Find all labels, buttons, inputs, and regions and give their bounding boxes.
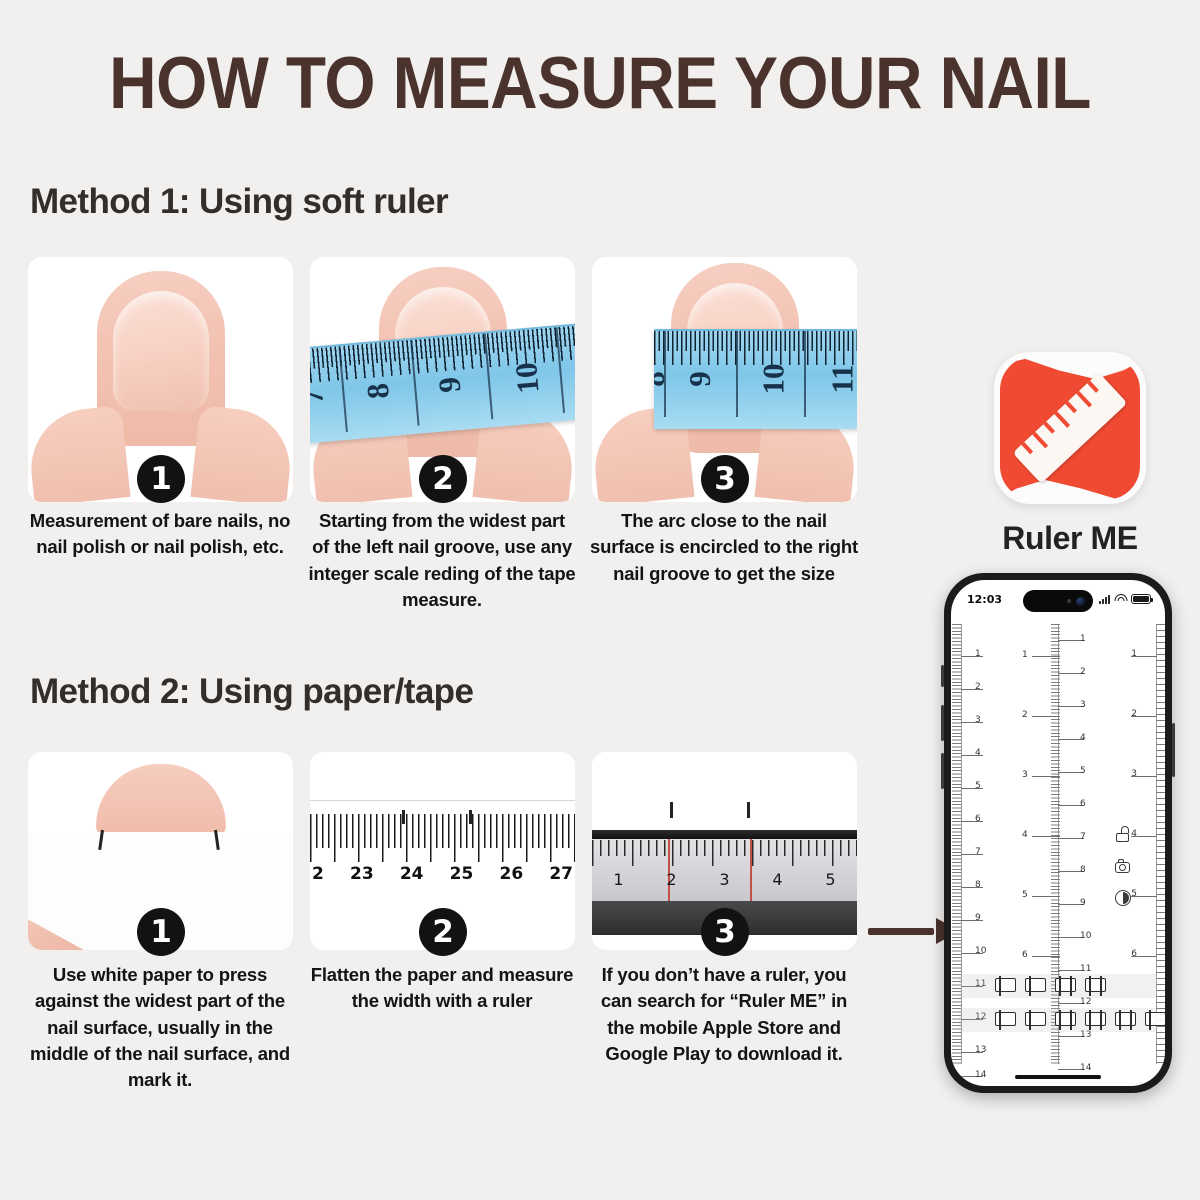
wifi-icon	[1114, 594, 1127, 604]
ruler-number-right: 8	[1080, 865, 1086, 875]
tape-unit-line	[804, 331, 806, 417]
ruler-number-right: 1	[1080, 634, 1086, 644]
ruler-number: 4	[1131, 829, 1137, 839]
ruler-number: 4	[772, 870, 782, 889]
ruler-number-right: 2	[1080, 667, 1086, 677]
ruler-number: 5	[975, 781, 981, 791]
ruler-number-left: 6	[1022, 950, 1028, 960]
method-1-step-1-caption: Measurement of bare nails, no nail polis…	[26, 508, 294, 561]
pen-mark-right	[747, 802, 750, 818]
power-button[interactable]	[1172, 723, 1175, 777]
ruler-number: 23	[350, 864, 374, 884]
measurement-chip[interactable]	[995, 1012, 1016, 1026]
ruler-number-left: 5	[1022, 890, 1028, 900]
sensor-dot	[1067, 599, 1071, 603]
ruler-number-left: 1	[1022, 650, 1028, 660]
ruler-number: 1	[613, 870, 623, 889]
front-camera-icon	[1076, 597, 1085, 606]
page-title: HOW TO MEASURE YOUR NAIL	[0, 42, 1200, 126]
app-name-label: Ruler ME	[960, 520, 1180, 557]
measurement-chip[interactable]	[1025, 978, 1046, 992]
measurement-chip[interactable]	[1115, 1012, 1136, 1026]
tape-number: 9	[682, 371, 718, 387]
tape-number: 11	[825, 364, 857, 393]
ruler-number: 3	[975, 715, 981, 725]
ruler-number: 6	[1131, 949, 1137, 959]
home-indicator[interactable]	[1015, 1075, 1101, 1079]
measurement-widget-row-1[interactable]	[959, 978, 1157, 992]
tape-measure: 8 9 10 11	[654, 329, 857, 429]
ruler-number-right: 9	[1080, 898, 1086, 908]
ruler-fine-ticks	[310, 814, 575, 848]
volume-up-button[interactable]	[941, 705, 944, 741]
ruler-number: 2	[1131, 709, 1137, 719]
ruler-number-right: 3	[1080, 700, 1086, 710]
arrow-shaft	[868, 928, 934, 935]
contrast-icon[interactable]	[1115, 890, 1131, 906]
ruler-number: 6	[975, 814, 981, 824]
ruler-number-right: 11	[1080, 964, 1091, 974]
tape-unit-line	[736, 331, 738, 417]
screen-tool-icons	[1115, 826, 1131, 906]
step-badge-2: 2	[419, 908, 467, 956]
method-2-heading: Method 2: Using paper/tape	[30, 672, 473, 712]
ruler-number: 7	[975, 847, 981, 857]
infographic-page: HOW TO MEASURE YOUR NAIL Method 1: Using…	[0, 0, 1200, 1200]
ruler-number: 9	[975, 913, 981, 923]
ruler-number-left: 2	[1022, 710, 1028, 720]
white-paper-sheet	[592, 752, 857, 800]
ruler-number: 2	[666, 870, 676, 889]
step-badge-1: 1	[137, 908, 185, 956]
ruler-number: 8	[975, 880, 981, 890]
measurement-chip[interactable]	[1055, 978, 1076, 992]
ruler-number: 1	[1131, 649, 1137, 659]
dynamic-island	[1023, 590, 1093, 612]
ruler-app-icon[interactable]	[994, 352, 1146, 504]
phone-mockup: 12:03	[944, 573, 1172, 1093]
measurement-chip[interactable]	[1055, 1012, 1076, 1026]
method-2-step-1-caption: Use white paper to press against the wid…	[26, 962, 294, 1093]
ruler-fine-ticks	[952, 624, 961, 1064]
ruler-number: 3	[1131, 769, 1137, 779]
ruler-number: 13	[975, 1045, 986, 1055]
finger-left	[28, 405, 131, 502]
measurement-chip[interactable]	[1085, 978, 1106, 992]
tape-number: 10	[508, 361, 547, 395]
step-badge-3: 3	[701, 908, 749, 956]
ruler-number: 5	[1131, 889, 1137, 899]
tape-number: 8	[654, 371, 672, 387]
ruler-number-left: 4	[1022, 830, 1028, 840]
ruler-fine-ticks	[1051, 624, 1060, 1064]
ruler-number: 2	[975, 682, 981, 692]
tape-number: 7	[310, 387, 331, 406]
volume-down-button[interactable]	[941, 753, 944, 789]
measurement-chip[interactable]	[1025, 1012, 1046, 1026]
cellular-signal-icon	[1099, 595, 1110, 604]
ruler-dark-edge	[592, 830, 857, 839]
ruler-number: 4	[975, 748, 981, 758]
silence-switch[interactable]	[941, 665, 944, 687]
ruler-number-right: 5	[1080, 766, 1086, 776]
ruler-number: 1	[975, 649, 981, 659]
ruler-number-right: 4	[1080, 733, 1086, 743]
step-badge-3: 3	[701, 455, 749, 503]
paper-edge	[310, 800, 575, 801]
step-badge-1: 1	[137, 455, 185, 503]
ruler-major-ticks	[310, 848, 575, 862]
measurement-chip[interactable]	[995, 978, 1016, 992]
left-ruler[interactable]: 1 2 3 4 5 6 7 8 9 10 11 12 13 14	[951, 624, 1015, 1064]
measurement-chip[interactable]	[1085, 1012, 1106, 1026]
ruler-number: 26	[499, 864, 523, 884]
thumb-nail	[113, 291, 209, 411]
ruler-fine-ticks	[1156, 624, 1165, 1064]
ruler-number: 10	[975, 946, 986, 956]
right-ruler[interactable]: 1 2 3 4 5 6	[1101, 624, 1165, 1064]
measurement-widget-row-2[interactable]	[959, 1012, 1157, 1026]
ruler-number-right: 12	[1080, 997, 1091, 1007]
method-1-step-3-caption: The arc close to the nail surface is enc…	[590, 508, 858, 587]
tape-number: 8	[360, 382, 397, 401]
ruler-number: 27	[549, 864, 573, 884]
ruler-number: 2	[312, 864, 324, 884]
method-2-step-2-caption: Flatten the paper and measure the width …	[308, 962, 576, 1015]
step-badge-2: 2	[419, 455, 467, 503]
status-bar-indicators	[1099, 594, 1151, 604]
ruler-number-right: 6	[1080, 799, 1086, 809]
pen-mark-left	[670, 802, 673, 818]
method-1-heading: Method 1: Using soft ruler	[30, 182, 448, 222]
ruler-number-right: 14	[1080, 1063, 1091, 1073]
ruler-baseline	[961, 624, 962, 1064]
finger-right	[190, 405, 293, 502]
status-bar-time: 12:03	[967, 593, 1002, 606]
ruler-number-right: 7	[1080, 832, 1086, 842]
tape-number: 10	[756, 364, 792, 395]
method-2-step-3-caption: If you don’t have a ruler, you can searc…	[590, 962, 858, 1067]
ruler-major-ticks	[592, 840, 857, 866]
method-1-step-2-caption: Starting from the widest part of the lef…	[308, 508, 576, 613]
tape-minor-ticks	[654, 331, 857, 351]
ruler-number-row: 1 2 3 4 5	[592, 870, 857, 889]
ruler-number: 25	[450, 864, 474, 884]
measurement-chip[interactable]	[1145, 1012, 1165, 1026]
ruler-number: 14	[975, 1070, 986, 1080]
phone-screen[interactable]: 12:03	[951, 580, 1165, 1086]
ruler-number-row: 2 23 24 25 26 27	[310, 864, 575, 884]
ruler-number: 24	[400, 864, 424, 884]
ruler-number: 5	[825, 870, 835, 889]
ruler-number: 3	[719, 870, 729, 889]
camera-icon[interactable]	[1115, 858, 1131, 874]
nail-outline-through-paper	[96, 764, 226, 836]
ruler-number-left: 3	[1022, 770, 1028, 780]
battery-icon	[1131, 594, 1151, 604]
tape-number: 9	[431, 375, 468, 394]
center-ruler[interactable]: 1 2 3 4 5 6 1 2	[1010, 624, 1106, 1064]
ruler-number-right: 10	[1080, 931, 1091, 941]
unlock-icon[interactable]	[1115, 826, 1131, 842]
